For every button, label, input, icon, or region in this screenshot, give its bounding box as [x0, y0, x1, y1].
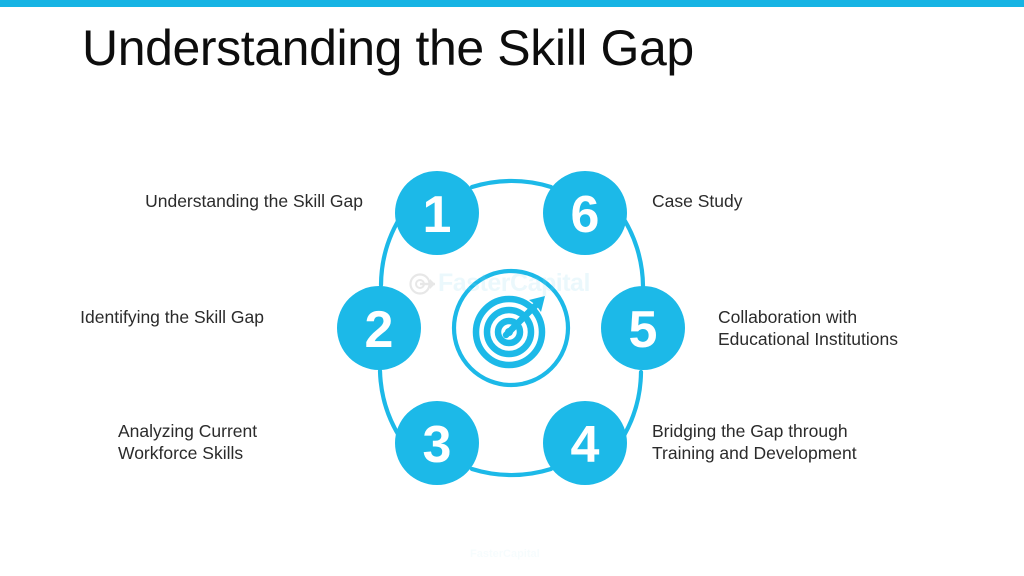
node-2-number: 2	[365, 301, 394, 359]
node-6[interactable]: 6	[543, 171, 627, 255]
node-2-label: Identifying the Skill Gap	[0, 306, 264, 328]
node-3-number: 3	[423, 416, 452, 474]
node-2[interactable]: 2	[337, 286, 421, 370]
node-1-label: Understanding the Skill Gap	[33, 190, 363, 212]
connector-arc-4-3	[472, 469, 551, 475]
node-1-number: 1	[423, 186, 452, 244]
node-3-label: Analyzing Current Workforce Skills	[118, 420, 418, 464]
node-1[interactable]: 1	[395, 171, 479, 255]
slide-canvas: Understanding the Skill Gap	[0, 0, 1024, 576]
connector-arc-1-6	[472, 181, 551, 187]
target-arrow-icon	[476, 296, 545, 365]
cycle-diagram: 1 2 3 4 5	[0, 0, 1024, 576]
node-5[interactable]: 5	[601, 286, 685, 370]
node-4-label: Bridging the Gap through Training and De…	[652, 420, 972, 464]
node-4[interactable]: 4	[543, 401, 627, 485]
node-6-label: Case Study	[652, 190, 952, 212]
node-6-number: 6	[571, 186, 600, 244]
node-5-label: Collaboration with Educational Instituti…	[718, 306, 1018, 350]
node-5-number: 5	[629, 301, 658, 359]
cycle-diagram-svg: 1 2 3 4 5	[0, 0, 1024, 576]
node-4-number: 4	[571, 416, 600, 474]
